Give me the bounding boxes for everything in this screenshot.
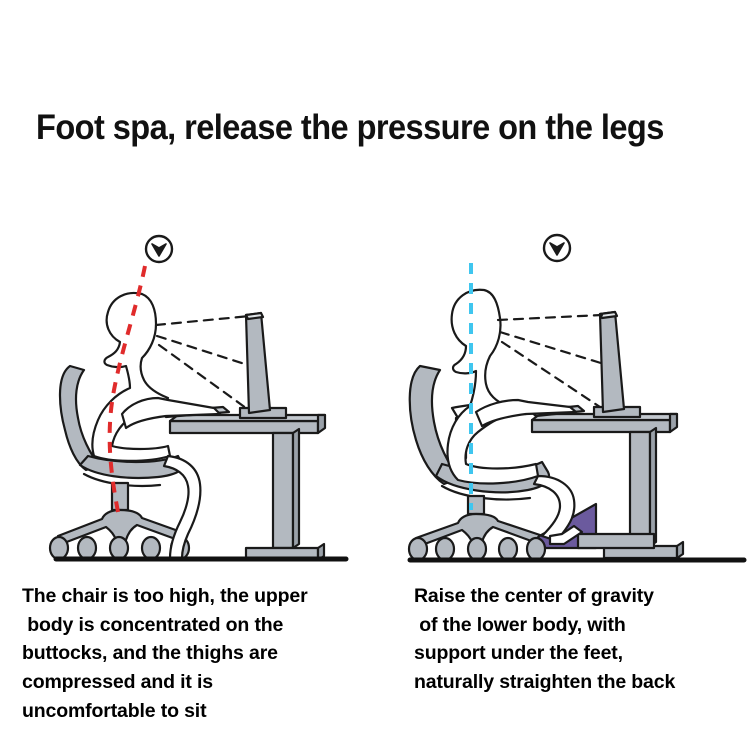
caption-line: support under the feet, — [414, 639, 744, 668]
monitor — [240, 313, 286, 418]
caption-line: uncomfortable to sit — [22, 697, 372, 726]
caption-bad-posture: The chair is too high, the upper body is… — [22, 582, 372, 725]
caption-good-posture: Raise the center of gravity of the lower… — [414, 582, 744, 697]
sight-lines — [156, 316, 250, 408]
circled-chevron-down-icon — [146, 236, 172, 262]
caption-line: compressed and it is — [22, 668, 372, 697]
caption-line: naturally straighten the back — [414, 668, 744, 697]
caption-line: body is concentrated on the — [22, 611, 372, 640]
caption-line: of the lower body, with — [414, 611, 744, 640]
illustration-good-posture — [392, 218, 747, 568]
infographic-page: Foot spa, release the pressure on the le… — [0, 0, 750, 750]
sight-lines — [498, 315, 604, 407]
illustration-bad-posture — [18, 218, 373, 568]
monitor — [594, 312, 640, 417]
caption-line: buttocks, and the thighs are — [22, 639, 372, 668]
caption-line: The chair is too high, the upper — [22, 582, 372, 611]
page-title: Foot spa, release the pressure on the le… — [36, 108, 678, 147]
circled-chevron-down-icon — [544, 235, 570, 261]
caption-line: Raise the center of gravity — [414, 582, 744, 611]
